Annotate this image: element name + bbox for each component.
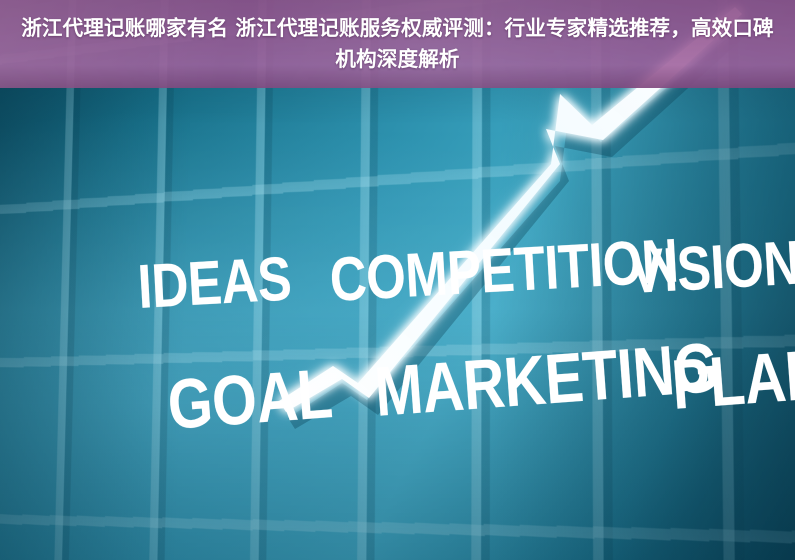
word-goal: GOAL xyxy=(165,353,335,445)
page-title: 浙江代理记账哪家有名 浙江代理记账服务权威评测：行业专家精选推荐，高效口碑机构深… xyxy=(18,13,778,75)
word-ideas: IDEAS xyxy=(136,243,293,322)
word-plan: PLAN xyxy=(669,334,795,425)
title-banner: 浙江代理记账哪家有名 浙江代理记账服务权威评测：行业专家精选推荐，高效口碑机构深… xyxy=(0,0,795,88)
page-root: IDEAS COMPETITION VISION GOAL MARKETING … xyxy=(0,0,795,560)
word-marketing: MARKETING xyxy=(372,327,721,432)
word-vision: VISION xyxy=(628,228,795,308)
